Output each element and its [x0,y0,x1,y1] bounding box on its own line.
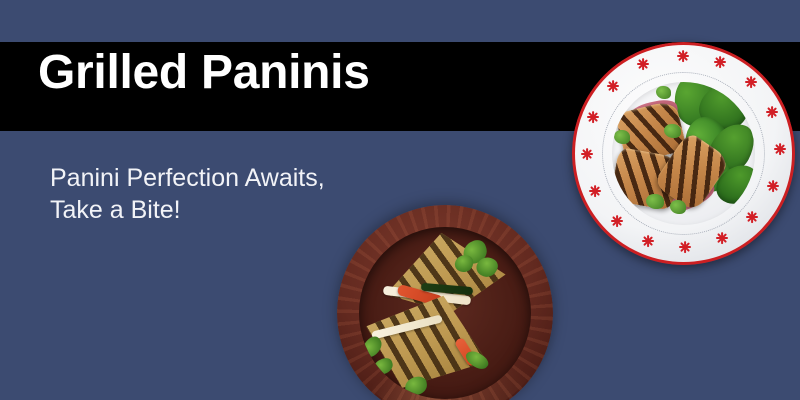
subtitle-block: Panini Perfection Awaits, Take a Bite! [50,162,325,226]
grilled-panini-plate-photo [572,42,795,265]
banner-root: Grilled Paninis Panini Perfection Awaits… [0,0,800,400]
dark-plate-inner-well [359,227,531,399]
plate-inner-well [612,82,755,225]
subtitle-line-2: Take a Bite! [50,194,325,226]
page-title: Grilled Paninis [38,49,370,97]
subtitle-line-1: Panini Perfection Awaits, [50,162,325,194]
